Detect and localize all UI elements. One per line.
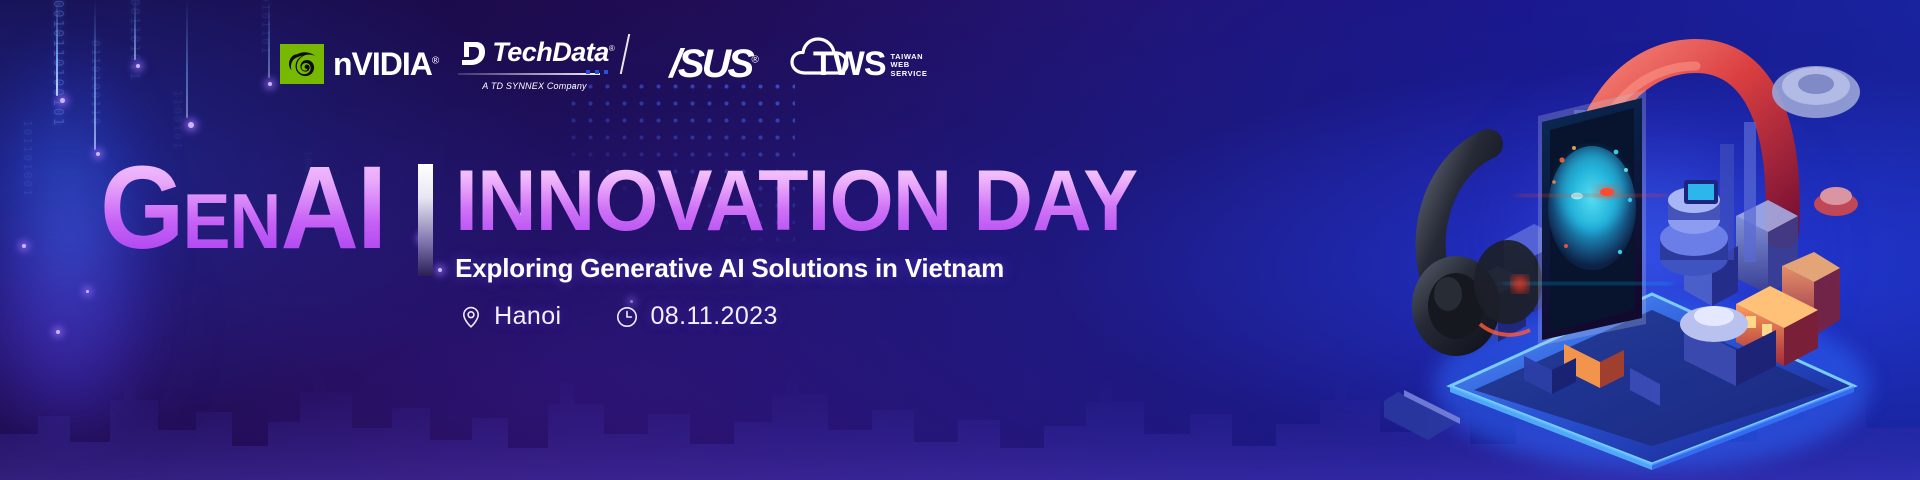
title-divider-bar <box>418 164 433 276</box>
nvidia-eye-mark <box>280 44 324 84</box>
sparkle-dot <box>22 244 26 248</box>
tech-data-row: TechData® <box>460 38 614 68</box>
tech-data-wordmark: TechData® <box>492 39 614 66</box>
light-streak <box>186 0 188 118</box>
sparkle-dot <box>188 122 194 128</box>
registered-mark: ® <box>432 55 438 66</box>
tech-data-underline <box>458 73 600 75</box>
partner-logo-bar: nVIDIA® TechData® A TD SYNNEX Company /S… <box>280 36 928 92</box>
sparkle-dot <box>60 98 65 103</box>
logo-tws[interactable]: TWS TAIWAN WEB SERVICE <box>795 47 928 81</box>
artwork-svg <box>1384 0 1904 480</box>
asus-wordmark-text: /SUS <box>669 42 752 86</box>
registered-mark: ® <box>752 55 760 66</box>
sparkle-dot <box>136 64 140 68</box>
registered-mark: ® <box>609 44 614 53</box>
nvidia-eye-icon <box>284 48 320 80</box>
headline-block: GENAI INNOVATION DAY Exploring Generativ… <box>100 152 1166 331</box>
tech-data-tagline: A TD SYNNEX Company <box>482 81 587 91</box>
headline-right-column: INNOVATION DAY Exploring Generative AI S… <box>455 162 1166 331</box>
tech-data-dots <box>586 70 608 74</box>
light-streak <box>134 0 136 60</box>
nvidia-wordmark-text: nVIDIA <box>333 46 432 82</box>
logo-asus[interactable]: /SUS® <box>670 44 759 84</box>
logo-tech-data[interactable]: TechData® A TD SYNNEX Company <box>460 38 614 91</box>
tws-tagline: TAIWAN WEB SERVICE <box>891 53 928 79</box>
event-meta: Hanoi 08.11.2023 <box>459 302 1166 331</box>
asus-wordmark: /SUS® <box>670 44 760 84</box>
event-location-text: Hanoi <box>494 302 561 331</box>
light-streak <box>268 0 270 78</box>
nvidia-wordmark: nVIDIA® <box>333 48 438 80</box>
event-date-text: 08.11.2023 <box>650 302 777 331</box>
genai-ai: AI <box>280 142 385 274</box>
light-streak <box>56 0 58 96</box>
event-subtitle: Exploring Generative AI Solutions in Vie… <box>455 253 1166 284</box>
sparkle-dot <box>268 82 272 86</box>
binary-stream: 101101001 <box>20 120 34 198</box>
tech-data-d-icon <box>460 38 486 68</box>
location-pin-icon <box>459 305 483 329</box>
sparkle-dot <box>86 290 89 293</box>
light-streak <box>94 0 96 150</box>
tws-tagline-line3: SERVICE <box>891 70 928 79</box>
innovation-day-title: INNOVATION DAY <box>455 162 1137 241</box>
clock-icon <box>615 305 639 329</box>
event-date: 08.11.2023 <box>615 302 777 331</box>
event-banner: 10010110100101 0110100110 101101001 0100… <box>0 0 1920 480</box>
tech-data-wordmark-text: TechData <box>492 37 609 67</box>
genai-g: G <box>100 142 183 274</box>
tws-wordmark: TWS <box>813 47 886 81</box>
tech-data-slash <box>620 34 631 74</box>
genai-en: EN <box>183 177 281 265</box>
event-location: Hanoi <box>459 302 561 331</box>
ai-tech-isometric-illustration <box>1384 0 1904 480</box>
genai-title: GENAI <box>100 152 385 265</box>
logo-nvidia[interactable]: nVIDIA® <box>280 44 438 84</box>
sparkle-dot <box>56 330 60 334</box>
